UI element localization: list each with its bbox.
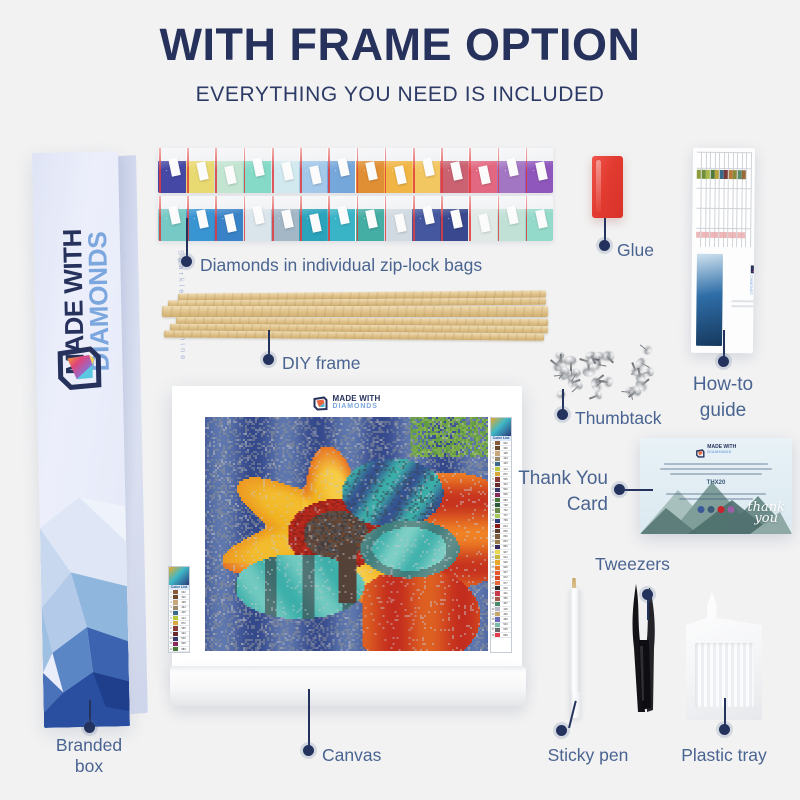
legend-code: 434 — [178, 606, 189, 609]
bag-sheen — [356, 148, 384, 193]
bag-sheen — [214, 196, 242, 241]
bag-sheen — [158, 148, 186, 193]
legend-code: 632 — [500, 442, 511, 445]
bag-sheen — [384, 148, 412, 193]
chart-swatch — [724, 170, 728, 179]
thumbtack-pin — [567, 379, 574, 387]
pinterest-icon — [718, 506, 725, 513]
ziplock-bag — [412, 148, 441, 193]
svg-text:MADE WITH: MADE WITH — [754, 275, 756, 298]
chart-column — [746, 152, 752, 247]
chart-swatch — [720, 170, 724, 179]
bag-sheen — [412, 196, 440, 241]
thumbtacks — [552, 348, 662, 408]
diy-frame-leader — [268, 330, 270, 356]
ziplock-bag — [384, 196, 413, 241]
legend-code: 469 — [500, 618, 511, 621]
bag-sheen — [327, 148, 355, 193]
chart-grid — [696, 152, 751, 248]
legend-code: 666 — [500, 634, 511, 637]
diamonds-bags-leader — [186, 218, 188, 258]
bag-sheen — [468, 148, 496, 193]
tweezers-leader — [647, 598, 649, 620]
twitter-icon — [708, 506, 715, 513]
ziplock-bag — [214, 148, 243, 193]
ziplock-bag — [158, 148, 187, 193]
card-body-line5 — [679, 498, 753, 500]
box-polygon-art — [39, 466, 130, 728]
canvas-leader — [308, 689, 310, 747]
tweezers — [627, 580, 661, 718]
chart-swatch — [697, 170, 701, 179]
legend-code: 946 — [500, 566, 511, 569]
canvas-brand-line2: DIAMONDS — [332, 403, 380, 411]
canvas-rolled-edge — [170, 666, 526, 706]
chart-swatch-bottom — [741, 232, 745, 238]
thank-you-card: MADE WITH DIAMONDS THX20 thank you — [640, 438, 792, 534]
branded-box-dot — [84, 722, 95, 733]
plastic-tray-leader — [724, 698, 726, 726]
chart-swatch-bottom — [710, 232, 714, 238]
ziplock-bag — [412, 196, 441, 241]
bag-sheen — [243, 196, 271, 241]
ziplock-bag — [440, 196, 469, 241]
chart-swatch — [711, 170, 715, 179]
tweezers-dot — [642, 589, 653, 600]
ziplock-bag — [271, 148, 300, 193]
legend-code: 632 — [178, 591, 189, 594]
legend-code: 839 — [500, 530, 511, 533]
bag-sheen — [440, 148, 468, 193]
diamonds-bags-dot — [181, 256, 192, 267]
bag-sheen — [299, 196, 327, 241]
callout-glue: Glue — [617, 240, 654, 261]
diamond-logo-icon — [696, 445, 705, 454]
legend-code: 367 — [500, 602, 511, 605]
ziplock-bag — [327, 196, 356, 241]
bag-sheen — [525, 196, 553, 241]
legend-code: 913 — [500, 556, 511, 559]
guide-cover-photo — [696, 254, 723, 346]
legend-code: 413 — [178, 617, 189, 620]
chart-swatch — [715, 170, 719, 179]
page-subtitle: EVERYTHING YOU NEED IS INCLUDED — [0, 84, 800, 105]
legend-code: 920 — [500, 561, 511, 564]
ziplock-bag — [186, 148, 215, 193]
bag-sheen — [186, 148, 214, 193]
bag-sheen — [525, 148, 553, 193]
legend-thumbnail — [169, 567, 189, 585]
thumbtack-leader — [562, 389, 564, 411]
tack-needle — [571, 386, 579, 393]
legend-title: Color List — [169, 585, 189, 590]
guide-text-line — [731, 300, 755, 302]
legend-code: 814 — [500, 525, 511, 528]
legend-code: 645 — [500, 628, 511, 631]
bag-sheen — [497, 196, 525, 241]
bag-sheen — [356, 196, 384, 241]
branded-box: Sparkle and Shine MADE — [24, 151, 156, 728]
canvas-dot — [303, 745, 314, 756]
callout-diamonds-bags: Diamonds in individual zip-lock bags — [200, 255, 482, 276]
bag-sheen — [497, 148, 525, 193]
bag-sheen — [271, 196, 299, 241]
glue-leader — [604, 218, 606, 242]
legend-code: 840 — [500, 535, 511, 538]
thumbtack-pin — [635, 356, 646, 369]
card-body-line3 — [670, 473, 762, 475]
instagram-icon — [728, 506, 735, 513]
ziplock-bag — [243, 148, 272, 193]
ziplock-bag — [384, 148, 413, 193]
card-thank-you-script: thank you — [747, 502, 785, 524]
ziplock-bag — [214, 196, 243, 241]
legend-code: 872 — [178, 622, 189, 625]
card-body-line2 — [660, 468, 772, 470]
svg-text:DIAMONDS: DIAMONDS — [749, 275, 753, 295]
glue-dot — [599, 240, 610, 251]
callout-plastic-tray: Plastic tray — [664, 745, 784, 766]
bag-sheen — [214, 148, 242, 193]
legend-code: 168 — [178, 601, 189, 604]
diamond-logo-icon — [56, 345, 103, 392]
sticky-pen-dot — [556, 725, 567, 736]
ziplock-bags-row-bottom — [158, 196, 553, 241]
callout-branded-box: Branded box — [19, 735, 159, 777]
legend-code: 445 — [178, 611, 189, 614]
legend-code: 343 — [178, 632, 189, 635]
chart-swatch-bottom — [696, 232, 700, 238]
canvas-brand-text: MADE WITH DIAMONDS — [332, 395, 380, 411]
callout-canvas: Canvas — [322, 745, 381, 766]
ziplock-bag — [186, 196, 215, 241]
facebook-icon — [698, 506, 705, 513]
thumbtack-pin — [573, 367, 582, 376]
chart-swatch — [738, 170, 742, 179]
canvas-brand-header: MADE WITH DIAMONDS — [172, 395, 522, 411]
legend-code: 543 — [500, 623, 511, 626]
callout-sticky-pen: Sticky pen — [528, 745, 648, 766]
thumbtack-pin — [565, 356, 576, 364]
legend-code: 434 — [500, 457, 511, 460]
thumbtack-pin — [643, 346, 653, 356]
card-body-line1 — [664, 463, 768, 465]
tack-needle — [642, 362, 651, 368]
bag-sheen — [468, 196, 496, 241]
canvas-mosaic-artwork — [205, 417, 488, 651]
diy-frame-dot — [263, 354, 274, 365]
legend-code: 356 — [500, 597, 511, 600]
canvas-color-legend-left: Color List163223003168443454456413787285… — [168, 566, 190, 653]
sticky-pen — [570, 578, 580, 718]
legend-row: 12680 — [169, 647, 189, 652]
legend-code: 321 — [500, 592, 511, 595]
ziplock-bag — [525, 148, 553, 193]
bag-sheen — [186, 196, 214, 241]
plastic-tray-dot — [719, 724, 730, 735]
callout-tweezers: Tweezers — [595, 554, 670, 575]
bag-sheen — [299, 148, 327, 193]
legend-code: 300 — [178, 596, 189, 599]
chart-swatch-bottom — [732, 232, 736, 238]
legend-code: 300 — [500, 447, 511, 450]
ziplock-bag — [468, 196, 497, 241]
how-to-guide-leader — [723, 330, 725, 358]
how-to-guide: MADE WITH DIAMONDS — [691, 148, 755, 354]
chart-swatch-bottom — [728, 232, 732, 238]
legend-code: 310 — [500, 587, 511, 590]
legend-code: 535 — [178, 627, 189, 630]
card-discount-code: THX20 — [707, 480, 726, 486]
tack-needle — [570, 361, 572, 370]
tack-needle — [639, 345, 647, 352]
guide-brand-logo: MADE WITH DIAMONDS — [737, 276, 755, 288]
card-social-icons — [698, 506, 735, 513]
chart-swatch — [702, 170, 706, 179]
legend-code: 436 — [500, 613, 511, 616]
callout-diy-frame: DIY frame — [282, 353, 360, 374]
ziplock-bag — [158, 196, 187, 241]
chart-swatch-bottom — [705, 232, 709, 238]
ziplock-bag — [356, 148, 385, 193]
ziplock-bags-row-top — [158, 148, 553, 193]
diy-frame — [160, 292, 550, 342]
legend-thumbnail — [491, 418, 511, 436]
card-brand-logo: MADE WITH DIAMONDS — [696, 445, 736, 454]
chart-swatch-bottom — [714, 232, 718, 238]
callout-thumbtack: Thumbtack — [575, 408, 662, 429]
legend-code: 445 — [500, 462, 511, 465]
bag-sheen — [158, 196, 186, 241]
bag-sheen — [327, 196, 355, 241]
legend-code: 168 — [500, 452, 511, 455]
bag-sheen — [243, 148, 271, 193]
legend-code: 606 — [178, 642, 189, 645]
guide-text-line — [731, 305, 755, 307]
legend-code: 500 — [178, 637, 189, 640]
legend-title: Color List — [491, 436, 511, 441]
thumbtack-pin — [591, 378, 597, 387]
ziplock-bag — [356, 196, 385, 241]
glue-package — [592, 156, 623, 218]
diamond-logo-icon — [313, 396, 328, 411]
canvas-preview: MADE WITH DIAMONDS Color List16322300316… — [172, 386, 522, 676]
thank-you-card-dot — [614, 484, 625, 495]
ziplock-bag — [327, 148, 356, 193]
legend-code: 415 — [500, 608, 511, 611]
page-title: WITH FRAME OPTION — [0, 22, 800, 67]
chart-swatch — [729, 170, 733, 179]
card-brand-text: MADE WITH DIAMONDS — [707, 445, 736, 454]
branded-box-leader — [89, 700, 91, 724]
thumbtack-pin — [605, 377, 613, 387]
chart-swatch-bottom — [723, 232, 727, 238]
thumbtack-dot — [557, 409, 568, 420]
infographic-stage: WITH FRAME OPTION EVERYTHING YOU NEED IS… — [0, 0, 800, 800]
legend-code: 796 — [500, 519, 511, 522]
legend-code: 907 — [500, 551, 511, 554]
ziplock-bag — [497, 196, 526, 241]
bag-sheen — [412, 148, 440, 193]
thumbtack-pin — [556, 390, 565, 397]
canvas-color-legend-right: Color List163223003168443454456413787285… — [490, 417, 512, 653]
ziplock-bag — [243, 196, 272, 241]
card-body-line4 — [666, 493, 766, 495]
thumbtack-pin — [583, 368, 595, 377]
canvas-brand-line1: MADE WITH — [332, 395, 380, 403]
legend-code: 972 — [500, 576, 511, 579]
thank-you-card-leader — [625, 489, 653, 491]
callout-thank-you-card: Thank You Card — [490, 466, 608, 517]
legend-code: 890 — [500, 545, 511, 548]
ziplock-bag — [299, 196, 328, 241]
ziplock-bag — [468, 148, 497, 193]
ziplock-bag — [525, 196, 553, 241]
bag-sheen — [440, 196, 468, 241]
ziplock-bag — [497, 148, 526, 193]
guide-color-chart — [696, 152, 751, 248]
chart-swatch — [706, 170, 710, 179]
thumbtack-pin — [647, 367, 653, 375]
chart-swatch — [742, 170, 746, 179]
callout-how-to-guide: How-to guide — [663, 372, 783, 423]
legend-code: 844 — [500, 540, 511, 543]
card-brand-line2: DIAMONDS — [707, 450, 736, 454]
ziplock-bag — [299, 148, 328, 193]
how-to-guide-dot — [718, 356, 729, 367]
bag-sheen — [384, 196, 412, 241]
legend-code: 680 — [178, 648, 189, 651]
ziplock-bag — [440, 148, 469, 193]
chart-swatch-bottom — [701, 232, 705, 238]
chart-swatch-bottom — [719, 232, 723, 238]
legend-code: 947 — [500, 571, 511, 574]
legend-row: 38666 — [491, 633, 511, 638]
bag-sheen — [271, 148, 299, 193]
tack-needle — [595, 380, 604, 382]
chart-swatch — [733, 170, 737, 179]
chart-swatch-bottom — [737, 232, 741, 238]
ziplock-bag — [271, 196, 300, 241]
tack-needle — [589, 395, 598, 400]
box-front-panel: MADE WITH DIAMONDS — [32, 151, 130, 728]
legend-code: 977 — [500, 582, 511, 585]
